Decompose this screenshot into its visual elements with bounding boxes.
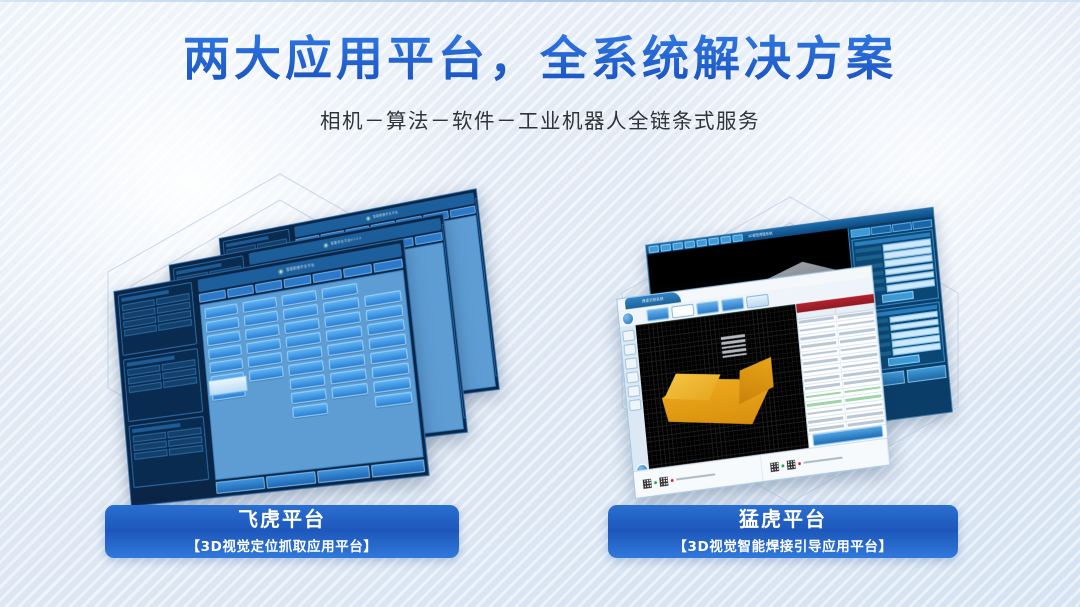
tab-calibration[interactable] xyxy=(871,225,891,236)
apply-button[interactable] xyxy=(887,354,920,366)
data-table-column[interactable] xyxy=(475,194,500,377)
toolbar-button[interactable] xyxy=(255,280,283,294)
tool-button[interactable] xyxy=(623,343,636,355)
sidebar-section xyxy=(123,348,203,422)
flow-node[interactable] xyxy=(246,338,281,354)
weld-coordinates-panel xyxy=(795,294,887,449)
dashboard-main: 智能制造作业平台 xyxy=(195,240,429,498)
flow-node[interactable] xyxy=(331,383,368,399)
flow-node[interactable] xyxy=(248,352,283,368)
flow-node[interactable] xyxy=(283,304,319,321)
feihu-platform-screenshot-stack: 智能制造作业平台 xyxy=(95,190,455,490)
flow-node[interactable] xyxy=(373,377,411,393)
toolbar-button[interactable] xyxy=(450,205,476,218)
sidebar-section xyxy=(128,416,209,489)
flow-node[interactable] xyxy=(287,346,323,362)
grid-icon xyxy=(786,459,795,469)
form-field[interactable] xyxy=(134,449,168,460)
platform-name: 猛虎平台 xyxy=(739,508,827,531)
status-label xyxy=(676,473,715,481)
grid-icon xyxy=(659,476,668,486)
viewport-3d[interactable] xyxy=(636,304,809,470)
app-logo-icon xyxy=(366,215,371,221)
tool-button[interactable] xyxy=(629,399,642,411)
flow-node[interactable] xyxy=(370,348,408,365)
slide-canvas: 两大应用平台，全系统解决方案 相机－算法－软件－工业机器人全链条式服务 xyxy=(0,0,1080,607)
toolbar-button-detect[interactable] xyxy=(721,297,744,312)
stop-run-button[interactable] xyxy=(906,365,946,383)
tab-parameters[interactable] xyxy=(850,227,870,238)
page-subtitle: 相机－算法－软件－工业机器人全链条式服务 xyxy=(0,104,1080,134)
flow-node[interactable] xyxy=(366,304,404,321)
status-dot-alert-icon xyxy=(671,478,674,481)
flow-node[interactable] xyxy=(284,318,320,334)
flow-node[interactable] xyxy=(245,324,280,340)
flow-node[interactable] xyxy=(372,362,410,379)
toolbar-chip[interactable] xyxy=(684,240,695,248)
window-title: 焊接识别系统 xyxy=(642,297,664,305)
app-title: 智能作业平台V1.0.3 xyxy=(331,236,362,246)
table-header xyxy=(478,197,497,205)
toolbar-chip[interactable] xyxy=(732,234,743,242)
tool-button[interactable] xyxy=(627,385,640,397)
status-dot-ok-icon xyxy=(781,464,784,467)
toolbar-button-export[interactable] xyxy=(746,293,769,308)
footer-button[interactable] xyxy=(216,477,265,494)
toolbar-button[interactable] xyxy=(284,274,312,288)
toolbar-button[interactable] xyxy=(414,232,442,245)
flow-node[interactable] xyxy=(327,340,364,356)
apply-button[interactable] xyxy=(881,290,914,302)
flow-node[interactable] xyxy=(329,354,366,370)
flow-node[interactable] xyxy=(369,333,407,350)
flow-node[interactable] xyxy=(288,360,324,376)
toolbar-button-open[interactable] xyxy=(671,303,694,318)
flow-node[interactable] xyxy=(291,388,327,404)
status-label xyxy=(803,456,842,464)
table-grid xyxy=(479,203,500,373)
flow-node[interactable] xyxy=(286,332,322,348)
tool-button[interactable] xyxy=(626,371,639,383)
toolbar-button-run[interactable] xyxy=(646,306,669,321)
tab-system[interactable] xyxy=(912,219,932,230)
platform-label-menghu[interactable]: 猛虎平台 【3D视觉智能焊接引导应用平台】 xyxy=(608,505,958,558)
grid-icon xyxy=(643,478,652,488)
dashboard-screenshot-front[interactable]: 智能制造作业平台 xyxy=(113,238,429,506)
app-title: 智能制造作业平台 xyxy=(373,210,398,219)
slide-header: 两大应用平台，全系统解决方案 相机－算法－软件－工业机器人全链条式服务 xyxy=(0,34,1080,134)
field-label xyxy=(855,246,881,253)
tool-button[interactable] xyxy=(622,330,635,342)
tab-camera[interactable] xyxy=(891,222,911,233)
top-accent-line xyxy=(0,0,1080,2)
flow-node[interactable] xyxy=(290,374,326,390)
flow-canvas[interactable] xyxy=(200,270,424,480)
flow-node[interactable] xyxy=(367,319,405,336)
footer-button[interactable] xyxy=(371,459,426,477)
footer-button[interactable] xyxy=(317,465,370,483)
dashboard-window: 智能制造作业平台 xyxy=(114,240,428,506)
platform-name: 飞虎平台 xyxy=(238,508,326,531)
toolbar-button[interactable] xyxy=(373,258,403,272)
platform-label-feihu[interactable]: 飞虎平台 【3D视觉定位抓取应用平台】 xyxy=(105,505,459,558)
flow-node[interactable] xyxy=(323,297,360,314)
footer-button[interactable] xyxy=(266,471,317,489)
app-title: 智能制造作业平台 xyxy=(286,263,315,273)
menghu-platform-screenshot-stack: 3D视觉焊接系统 焊缝识别 xyxy=(615,225,960,490)
toolbar-button[interactable] xyxy=(313,269,342,283)
right-table-columns xyxy=(475,188,500,376)
page-title: 两大应用平台，全系统解决方案 xyxy=(0,34,1080,86)
flow-node[interactable] xyxy=(375,392,413,408)
toolbar-button[interactable] xyxy=(343,264,372,278)
platform-description: 【3D视觉定位抓取应用平台】 xyxy=(187,535,378,555)
viewport-stats-overlay xyxy=(721,334,747,360)
tool-button[interactable] xyxy=(625,357,638,369)
flow-node[interactable] xyxy=(330,368,367,384)
flow-node[interactable] xyxy=(364,290,402,307)
table-body[interactable] xyxy=(797,309,886,436)
flow-node[interactable] xyxy=(210,358,244,374)
sidebar-section xyxy=(118,282,198,357)
flow-node[interactable] xyxy=(322,283,359,300)
flow-node[interactable] xyxy=(249,366,284,382)
app-logo-icon xyxy=(323,242,329,248)
welding-3d-window-front[interactable]: 焊接识别系统 xyxy=(616,265,890,499)
form-field[interactable] xyxy=(169,444,204,455)
flow-node[interactable] xyxy=(326,325,363,342)
grid-icon xyxy=(770,462,779,472)
flow-node[interactable] xyxy=(292,403,328,419)
flow-node[interactable] xyxy=(244,310,279,326)
platform-description: 【3D视觉智能焊接引导应用平台】 xyxy=(673,535,892,555)
flow-node[interactable] xyxy=(282,290,318,307)
status-dot-alert-icon xyxy=(797,462,800,465)
toolbar-button-scan[interactable] xyxy=(696,300,719,315)
status-dot-ok-icon xyxy=(654,481,657,484)
app-logo-icon xyxy=(278,268,284,275)
flow-node[interactable] xyxy=(324,311,361,328)
flow-node-grid xyxy=(205,276,418,475)
